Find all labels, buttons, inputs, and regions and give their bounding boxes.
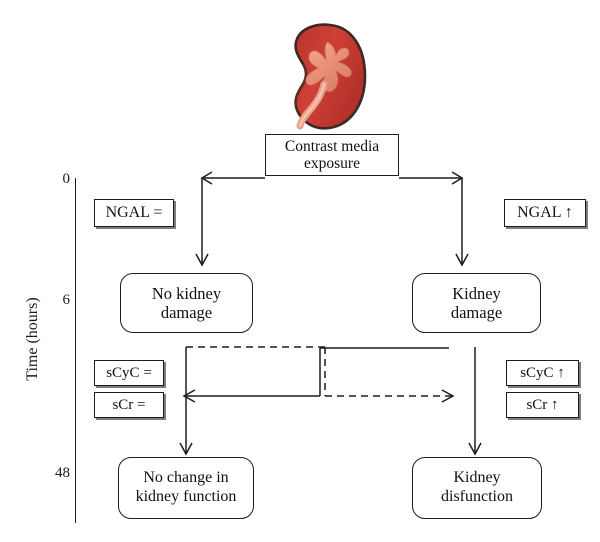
marker-scyc-left-label: sCyC = <box>106 365 152 382</box>
marker-scyc-left: sCyC = <box>94 360 164 386</box>
marker-ngal-left: NGAL = <box>94 199 174 227</box>
node-kidney-damage-label: Kidney damage <box>451 284 502 322</box>
marker-scyc-right: sCyC ↑ <box>506 360 579 386</box>
node-kidney-damage: Kidney damage <box>412 273 541 333</box>
marker-scr-right-label: sCr ↑ <box>526 397 558 414</box>
marker-scr-right: sCr ↑ <box>506 392 579 418</box>
node-no-kidney-damage: No kidney damage <box>120 273 253 333</box>
kidney-illustration <box>272 22 368 134</box>
marker-ngal-right: NGAL ↑ <box>504 199 586 227</box>
marker-scr-left-label: sCr = <box>112 397 145 414</box>
node-no-kidney-damage-label: No kidney damage <box>152 284 221 322</box>
axis-tick-48: 48 <box>44 466 70 481</box>
node-kidney-disfunction-label: Kidney disfunction <box>441 469 513 506</box>
axis-tick-6: 6 <box>44 293 70 308</box>
flowchart-diagram: 0 6 48 Time (hours) Contrast media expos… <box>0 0 600 542</box>
node-kidney-disfunction: Kidney disfunction <box>412 457 542 519</box>
marker-scr-left: sCr = <box>94 392 164 418</box>
node-no-change-kidney-function: No change in kidney function <box>118 457 254 519</box>
marker-ngal-right-label: NGAL ↑ <box>517 204 573 222</box>
marker-scyc-right-label: sCyC ↑ <box>520 365 565 382</box>
node-no-change-kidney-function-label: No change in kidney function <box>136 469 237 506</box>
marker-ngal-left-label: NGAL = <box>106 204 163 222</box>
